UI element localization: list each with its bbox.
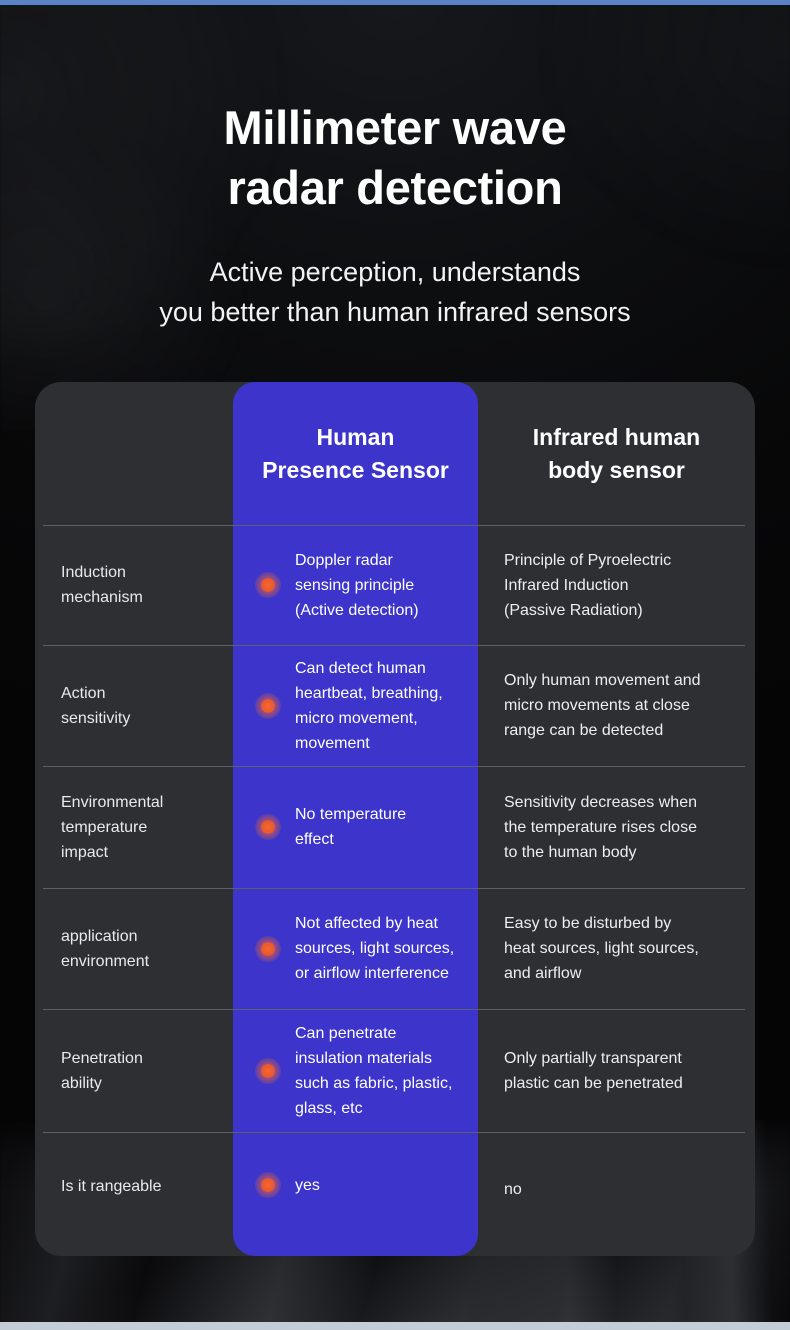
comparison-table-card: Human Presence Sensor Infrared human bod… xyxy=(35,382,755,1256)
table-header-human-presence-sensor-cell: Human Presence Sensor xyxy=(233,382,478,525)
row-attribute-cell: Is it rangeable xyxy=(35,1132,233,1256)
row-attribute-cell: Environmental temperature impact xyxy=(35,766,233,888)
row-highlight-cell: No temperature effect xyxy=(233,766,478,888)
page-title: Millimeter wave radar detection xyxy=(0,98,790,218)
bullet-dot-icon xyxy=(255,1058,281,1084)
row-attribute-cell: Action sensitivity xyxy=(35,645,233,766)
row-attribute-label: Induction mechanism xyxy=(61,560,143,610)
table-header-infrared-sensor-label: Infrared human body sensor xyxy=(533,421,700,487)
table-row: Action sensitivity Can detect human hear… xyxy=(35,645,755,766)
table-header-row: Human Presence Sensor Infrared human bod… xyxy=(35,382,755,525)
row-attribute-label: application environment xyxy=(61,924,149,974)
row-attribute-cell: Induction mechanism xyxy=(35,525,233,645)
row-compare-text: no xyxy=(504,1177,522,1202)
page-root: Millimeter wave radar detection Active p… xyxy=(0,0,790,1330)
table-row: Induction mechanism Doppler radar sensin… xyxy=(35,525,755,645)
row-attribute-label: Penetration ability xyxy=(61,1046,143,1096)
bullet-dot-icon xyxy=(255,814,281,840)
row-highlight-cell: Not affected by heat sources, light sour… xyxy=(233,888,478,1009)
bullet-dot-icon xyxy=(255,1172,281,1198)
bullet-dot-icon xyxy=(255,693,281,719)
page-header: Millimeter wave radar detection Active p… xyxy=(0,0,790,332)
row-highlight-text: Can detect human heartbeat, breathing, m… xyxy=(295,656,443,756)
table-row: Environmental temperature impact No temp… xyxy=(35,766,755,888)
table-header-human-presence-sensor-label: Human Presence Sensor xyxy=(262,421,449,487)
row-attribute-label: Is it rangeable xyxy=(61,1174,162,1199)
row-compare-text: Only human movement and micro movements … xyxy=(504,668,701,743)
row-highlight-text: Not affected by heat sources, light sour… xyxy=(295,911,454,986)
row-highlight-text: Doppler radar sensing principle (Active … xyxy=(295,548,419,623)
table-row: Is it rangeable yes no xyxy=(35,1132,755,1256)
bullet-dot-icon xyxy=(255,936,281,962)
row-compare-cell: Only partially transparent plastic can b… xyxy=(478,1009,755,1132)
table-header-infrared-sensor-cell: Infrared human body sensor xyxy=(478,382,755,525)
row-attribute-cell: Penetration ability xyxy=(35,1009,233,1132)
table-row: application environment Not affected by … xyxy=(35,888,755,1009)
comparison-table: Human Presence Sensor Infrared human bod… xyxy=(35,382,755,1256)
row-attribute-label: Environmental temperature impact xyxy=(61,790,163,865)
row-compare-text: Only partially transparent plastic can b… xyxy=(504,1046,683,1096)
row-compare-cell: Sensitivity decreases when the temperatu… xyxy=(478,766,755,888)
row-compare-cell: Easy to be disturbed by heat sources, li… xyxy=(478,888,755,1009)
row-highlight-cell: yes xyxy=(233,1132,478,1256)
row-compare-text: Principle of Pyroelectric Infrared Induc… xyxy=(504,548,671,623)
bullet-dot-icon xyxy=(255,572,281,598)
row-attribute-label: Action sensitivity xyxy=(61,681,130,731)
row-highlight-text: No temperature effect xyxy=(295,802,406,852)
row-attribute-cell: application environment xyxy=(35,888,233,1009)
bottom-accent-strip xyxy=(0,1322,790,1330)
row-highlight-text: yes xyxy=(295,1173,320,1198)
row-highlight-cell: Can penetrate insulation materials such … xyxy=(233,1009,478,1132)
row-compare-cell: Only human movement and micro movements … xyxy=(478,645,755,766)
page-subtitle: Active perception, understands you bette… xyxy=(0,252,790,332)
row-compare-text: Sensitivity decreases when the temperatu… xyxy=(504,790,697,865)
row-compare-cell: no xyxy=(478,1132,755,1256)
top-accent-strip xyxy=(0,0,790,5)
row-compare-text: Easy to be disturbed by heat sources, li… xyxy=(504,911,699,986)
row-highlight-cell: Can detect human heartbeat, breathing, m… xyxy=(233,645,478,766)
row-highlight-text: Can penetrate insulation materials such … xyxy=(295,1021,452,1121)
row-compare-cell: Principle of Pyroelectric Infrared Induc… xyxy=(478,525,755,645)
table-header-attribute-cell xyxy=(35,382,233,525)
table-row: Penetration ability Can penetrate insula… xyxy=(35,1009,755,1132)
row-highlight-cell: Doppler radar sensing principle (Active … xyxy=(233,525,478,645)
